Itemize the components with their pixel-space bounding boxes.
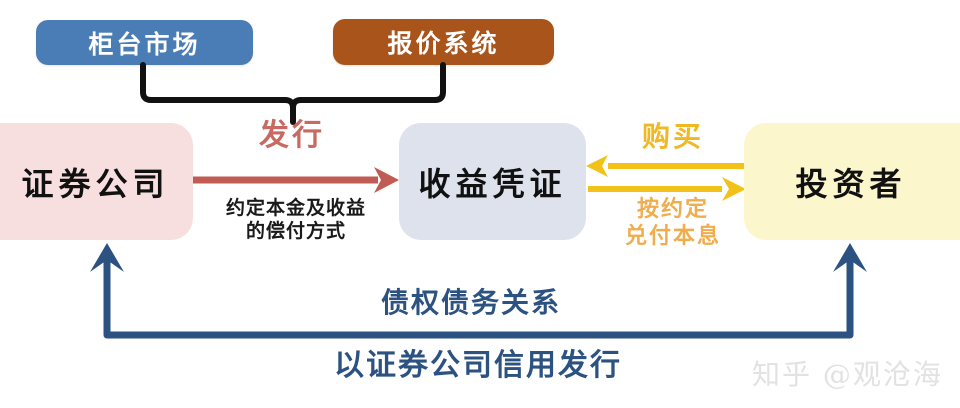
node-securities-company[interactable]: 证券公司 xyxy=(0,123,193,240)
node-otc-market-label: 柜台市场 xyxy=(88,25,200,61)
issue-terms-label: 约定本金及收益 的偿付方式 xyxy=(190,197,402,243)
debt-path-left-arrowhead xyxy=(90,243,124,272)
credit-issue-label: 以证券公司信用发行 xyxy=(300,348,656,385)
debt-path-right-arrowhead xyxy=(833,243,867,272)
watermark: 知乎 @观沧海 xyxy=(752,353,943,393)
issue-arrow-head xyxy=(374,167,399,193)
node-otc-market[interactable]: 柜台市场 xyxy=(36,20,253,65)
repay-arrow-label: 按约定 兑付本息 xyxy=(598,196,748,250)
debt-relation-label: 债权债务关系 xyxy=(348,286,594,320)
issue-arrow-label: 发行 xyxy=(232,118,352,155)
node-investor-label: 投资者 xyxy=(795,159,906,205)
node-income-certificate-label: 收益凭证 xyxy=(418,159,566,205)
node-income-certificate[interactable]: 收益凭证 xyxy=(399,123,586,240)
bracket-connector xyxy=(143,65,443,108)
node-investor[interactable]: 投资者 xyxy=(744,123,960,240)
diagram-canvas: 柜台市场 报价系统 证券公司 收益凭证 投资者 发行 约定本金及收益 的偿付方式… xyxy=(0,0,960,408)
node-quotation-system-label: 报价系统 xyxy=(387,24,499,60)
node-securities-company-label: 证券公司 xyxy=(21,159,169,205)
buy-arrow-head xyxy=(586,155,608,177)
buy-arrow-label: 购买 xyxy=(612,120,734,154)
node-quotation-system[interactable]: 报价系统 xyxy=(333,19,554,65)
